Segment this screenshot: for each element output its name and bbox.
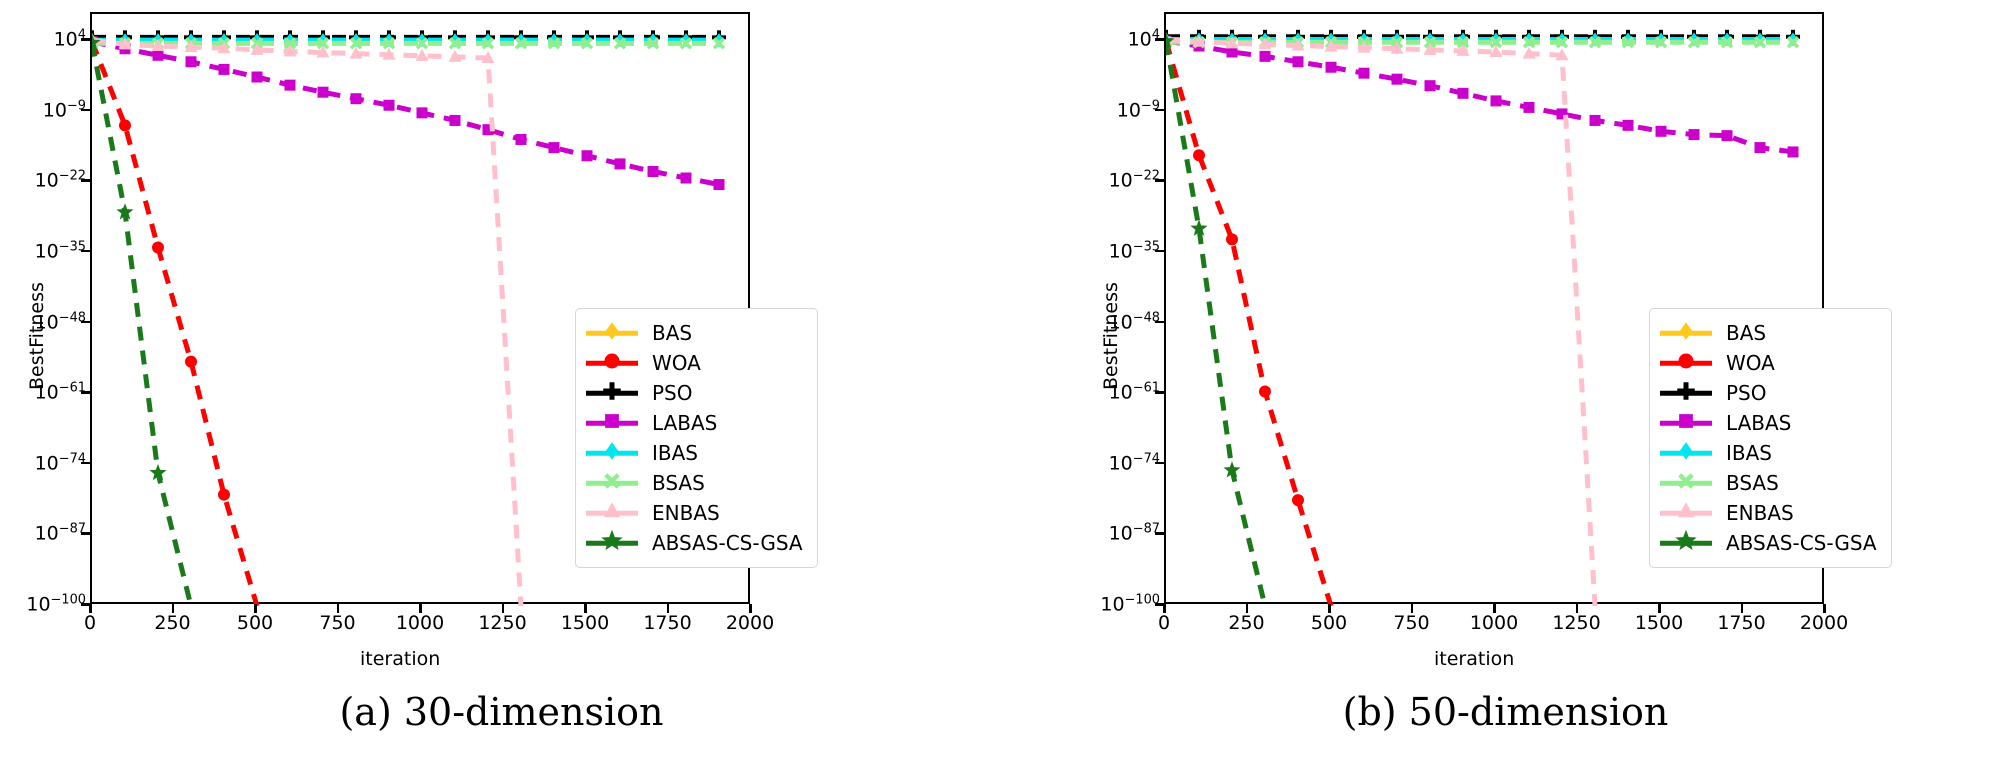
x-tick-label: 2000 (726, 612, 774, 634)
y-tick-label: 10−61 (1109, 381, 1160, 404)
legend-item-bas[interactable]: BAS (1660, 318, 1877, 348)
x-tick-label: 0 (84, 612, 96, 634)
x-tick-mark (1328, 604, 1331, 613)
y-tick-mark (1155, 109, 1164, 112)
y-tick-mark (81, 321, 90, 324)
y-tick-label: 10−48 (1109, 310, 1160, 333)
legend-item-bsas[interactable]: BSAS (586, 468, 803, 498)
y-tick-label: 10−74 (35, 451, 86, 474)
legend-marker-triangle-icon (586, 501, 638, 525)
x-tick-label: 1250 (478, 612, 526, 634)
series-enbas (1160, 33, 1596, 606)
x-tick-mark (1493, 604, 1496, 613)
x-tick-label: 250 (1228, 612, 1264, 634)
x-tick-label: 750 (1393, 612, 1429, 634)
legend-marker-circle-icon (586, 351, 638, 375)
x-tick-mark (1741, 604, 1744, 613)
y-tick-label: 10−9 (43, 98, 86, 121)
y-tick-label: 10−100 (26, 592, 86, 615)
legend-label: LABAS (1726, 413, 1791, 433)
legend-marker-circle-icon (1660, 351, 1712, 375)
y-tick-label: 10−87 (1109, 522, 1160, 545)
x-tick-label: 1750 (1717, 612, 1765, 634)
y-tick-mark (1155, 532, 1164, 535)
legend-b[interactable]: BASWOAPSOLABASIBASBSASENBASABSAS-CS-GSA (1649, 308, 1892, 568)
y-tick-label: 10−35 (35, 239, 86, 262)
x-tick-mark (667, 604, 670, 613)
x-tick-mark (1658, 604, 1661, 613)
x-tick-mark (254, 604, 257, 613)
legend-marker-square-icon (1660, 411, 1712, 435)
panel-50-dimension: BestFitness 10410−910−2210−3510−4810−611… (1004, 0, 2007, 770)
legend-item-bas[interactable]: BAS (586, 318, 803, 348)
x-tick-label: 2000 (1800, 612, 1848, 634)
legend-marker-diamond-icon (1660, 321, 1712, 345)
legend-item-bsas[interactable]: BSAS (1660, 468, 1877, 498)
legend-item-woa[interactable]: WOA (586, 348, 803, 378)
x-axis-label-a: iteration (360, 648, 440, 670)
x-tick-label: 500 (237, 612, 273, 634)
legend-marker-diamond-icon (586, 321, 638, 345)
legend-item-pso[interactable]: PSO (1660, 378, 1877, 408)
series-absas-cs-gsa (83, 34, 191, 606)
legend-marker-star-icon (1660, 531, 1712, 555)
y-tick-label: 10−22 (35, 169, 86, 192)
legend-marker-star-icon (586, 531, 638, 555)
y-tick-mark (81, 532, 90, 535)
x-tick-mark (749, 604, 752, 613)
x-tick-mark (502, 604, 505, 613)
x-tick-mark (1823, 604, 1826, 613)
legend-label: PSO (1726, 383, 1767, 403)
panel-30-dimension: BestFitness 10410−910−2210−3510−4810−611… (0, 0, 1003, 770)
x-tick-mark (419, 604, 422, 613)
x-tick-mark (584, 604, 587, 613)
y-tick-label: 10−74 (1109, 451, 1160, 474)
x-tick-label: 1750 (643, 612, 691, 634)
y-tick-mark (81, 391, 90, 394)
legend-label: ENBAS (1726, 503, 1794, 523)
legend-label: ENBAS (652, 503, 720, 523)
legend-item-enbas[interactable]: ENBAS (586, 498, 803, 528)
x-tick-mark (1411, 604, 1414, 613)
y-tick-mark (1155, 462, 1164, 465)
legend-marker-plus-icon (1660, 381, 1712, 405)
legend-label: BSAS (652, 473, 705, 493)
y-tick-label: 10−61 (35, 381, 86, 404)
y-tick-label: 10−9 (1117, 98, 1160, 121)
legend-marker-diamond-icon (1660, 441, 1712, 465)
legend-item-ibas[interactable]: IBAS (1660, 438, 1877, 468)
y-tick-mark (81, 250, 90, 253)
legend-label: BAS (652, 323, 692, 343)
x-tick-label: 250 (154, 612, 190, 634)
x-tick-label: 1250 (1552, 612, 1600, 634)
y-tick-label: 10−35 (1109, 239, 1160, 262)
series-labas (87, 36, 725, 190)
legend-item-absas-cs-gsa[interactable]: ABSAS-CS-GSA (1660, 528, 1877, 558)
y-tick-mark (81, 109, 90, 112)
legend-item-labas[interactable]: LABAS (586, 408, 803, 438)
y-tick-mark (1155, 38, 1164, 41)
y-tick-label: 10−48 (35, 310, 86, 333)
legend-marker-x-icon (1660, 471, 1712, 495)
legend-label: PSO (652, 383, 693, 403)
y-tick-label: 10−100 (1100, 592, 1160, 615)
y-tick-label: 10−22 (1109, 169, 1160, 192)
y-tick-mark (81, 38, 90, 41)
x-tick-label: 1500 (561, 612, 609, 634)
legend-item-ibas[interactable]: IBAS (586, 438, 803, 468)
x-tick-label: 1000 (396, 612, 444, 634)
x-axis-label-b: iteration (1434, 648, 1514, 670)
y-tick-label: 10−87 (35, 522, 86, 545)
legend-marker-x-icon (586, 471, 638, 495)
y-tick-mark (1155, 321, 1164, 324)
panel-caption-a: (a) 30-dimension (0, 690, 1003, 734)
x-tick-mark (1576, 604, 1579, 613)
legend-marker-triangle-icon (1660, 501, 1712, 525)
legend-marker-square-icon (586, 411, 638, 435)
x-tick-label: 0 (1158, 612, 1170, 634)
y-axis-ticks-a: 10410−910−2210−3510−4810−6110−7410−8710−… (0, 12, 86, 604)
panel-caption-b: (b) 50-dimension (1004, 690, 2007, 734)
y-tick-mark (1155, 391, 1164, 394)
legend-marker-plus-icon (586, 381, 638, 405)
x-axis-ticks-b: 025050075010001250150017502000 (1164, 612, 1824, 646)
x-axis-ticks-a: 025050075010001250150017502000 (90, 612, 750, 646)
legend-label: IBAS (1726, 443, 1772, 463)
y-tick-mark (1155, 250, 1164, 253)
legend-label: BAS (1726, 323, 1766, 343)
legend-label: WOA (652, 353, 701, 373)
x-tick-mark (172, 604, 175, 613)
x-tick-label: 1500 (1635, 612, 1683, 634)
x-tick-label: 1000 (1470, 612, 1518, 634)
figure-convergence-comparison: BestFitness 10410−910−2210−3510−4810−611… (0, 0, 2007, 770)
legend-label: ABSAS-CS-GSA (1726, 533, 1877, 553)
legend-item-enbas[interactable]: ENBAS (1660, 498, 1877, 528)
x-tick-mark (1163, 604, 1166, 613)
y-tick-mark (81, 179, 90, 182)
x-tick-mark (89, 604, 92, 613)
legend-label: ABSAS-CS-GSA (652, 533, 803, 553)
legend-item-pso[interactable]: PSO (586, 378, 803, 408)
y-axis-ticks-b: 10410−910−2210−3510−4810−6110−7410−8710−… (1074, 12, 1160, 604)
legend-label: IBAS (652, 443, 698, 463)
legend-marker-diamond-icon (586, 441, 638, 465)
legend-label: BSAS (1726, 473, 1779, 493)
legend-item-absas-cs-gsa[interactable]: ABSAS-CS-GSA (586, 528, 803, 558)
legend-item-woa[interactable]: WOA (1660, 348, 1877, 378)
x-tick-label: 750 (319, 612, 355, 634)
y-tick-mark (1155, 179, 1164, 182)
legend-label: LABAS (652, 413, 717, 433)
x-tick-mark (1246, 604, 1249, 613)
legend-item-labas[interactable]: LABAS (1660, 408, 1877, 438)
y-tick-mark (81, 462, 90, 465)
x-tick-mark (337, 604, 340, 613)
legend-label: WOA (1726, 353, 1775, 373)
legend-a[interactable]: BASWOAPSOLABASIBASBSASENBASABSAS-CS-GSA (575, 308, 818, 568)
x-tick-label: 500 (1311, 612, 1347, 634)
